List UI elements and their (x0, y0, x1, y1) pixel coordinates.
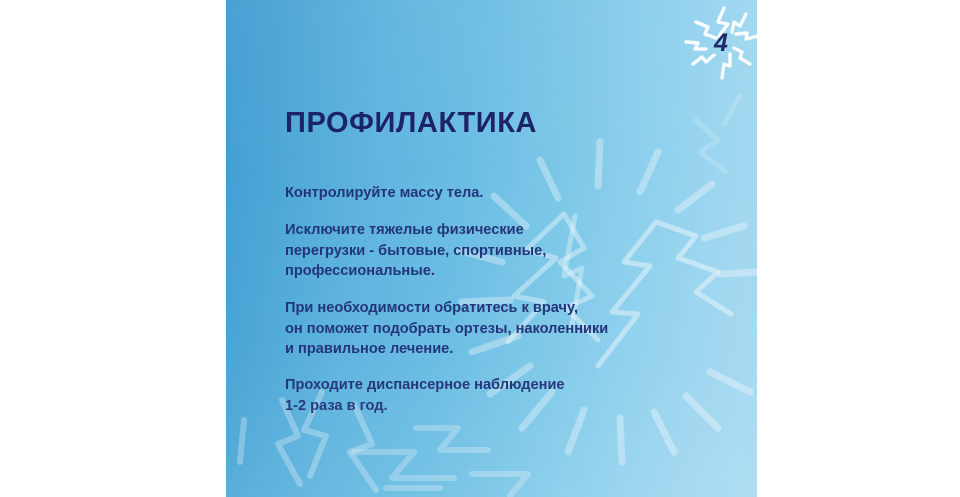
advice-paragraph: При необходимости обратитесь к врачу, он… (285, 298, 608, 360)
advice-paragraph: Контролируйте массу тела. (285, 183, 483, 204)
screenshot-canvas: 4 ПРОФИЛАКТИКА Контролируйте массу тела.… (0, 0, 960, 497)
slide-content: ПРОФИЛАКТИКА Контролируйте массу тела. И… (285, 0, 725, 497)
advice-paragraph: Проходите диспансерное наблюдение 1-2 ра… (285, 375, 565, 416)
advice-paragraph: Исключите тяжелые физические перегрузки … (285, 220, 546, 282)
info-slide-card: 4 ПРОФИЛАКТИКА Контролируйте массу тела.… (226, 0, 757, 497)
page-title: ПРОФИЛАКТИКА (285, 107, 537, 140)
